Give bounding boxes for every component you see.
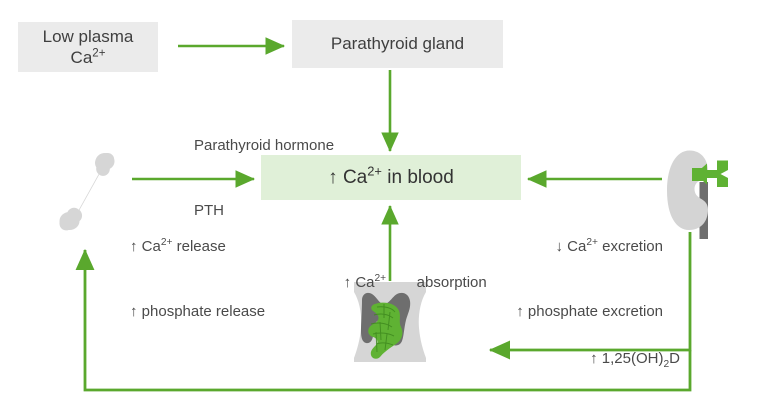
bone-phos-arrow-icon: ↑ (130, 303, 138, 320)
node-low-plasma-calcium[interactable]: Low plasma Ca2+ (18, 22, 158, 72)
label-intestine-absorption-left: ↑ Ca2+ (327, 250, 386, 315)
low-plasma-ca-prefix: Ca (71, 48, 93, 67)
vitd-up-arrow-icon: ↑ (590, 350, 598, 367)
ca-blood-prefix: Ca (338, 167, 368, 188)
bone-release-line1: ↑ Ca2+ release (130, 236, 265, 258)
bone-ca-suffix: release (172, 238, 225, 255)
bone-ca-charge: 2+ (161, 237, 173, 248)
low-plasma-ca-charge: 2+ (92, 47, 105, 59)
bone-up-arrow-icon: ↑ (130, 238, 138, 255)
node-parathyroid-gland[interactable]: Parathyroid gland (292, 20, 503, 68)
label-vitamin-d: ↑ 1,25(OH)2D (480, 326, 680, 391)
vitd-prefix: 1,25(OH) (598, 350, 664, 367)
diagram-canvas: Low plasma Ca2+ Parathyroid gland ↑ Ca2+… (0, 0, 768, 410)
kidney-icon (665, 148, 731, 240)
pth-line1: Parathyroid hormone (194, 135, 334, 157)
vitd-suffix: D (669, 350, 680, 367)
ca-blood-suffix: in blood (382, 167, 454, 188)
bone-ca-prefix: Ca (138, 238, 161, 255)
label-bone-release: ↑ Ca2+ release ↑ phosphate release (130, 192, 265, 366)
femur-bone-icon (58, 147, 116, 242)
kidney-down-arrow-icon: ↓ (555, 238, 563, 255)
parathyroid-gland-label: Parathyroid gland (331, 33, 464, 54)
absorption-ca-prefix: Ca (351, 274, 374, 291)
kidney-ca-prefix: Ca (563, 238, 586, 255)
absorption-text: absorption (417, 274, 487, 291)
kidney-ca-charge: 2+ (586, 237, 598, 248)
bone-phos-text: phosphate release (138, 303, 266, 320)
kidney-ca-suffix: excretion (598, 238, 663, 255)
label-intestine-absorption-right: absorption (400, 250, 487, 315)
low-plasma-line1: Low plasma (43, 27, 134, 46)
kidney-phos-text: phosphate excretion (524, 303, 663, 320)
ca-blood-charge: 2+ (367, 163, 382, 178)
bone-release-line2: ↑ phosphate release (130, 301, 265, 323)
absorption-ca-charge: 2+ (375, 273, 387, 284)
kidney-phos-arrow-icon: ↑ (516, 303, 524, 320)
